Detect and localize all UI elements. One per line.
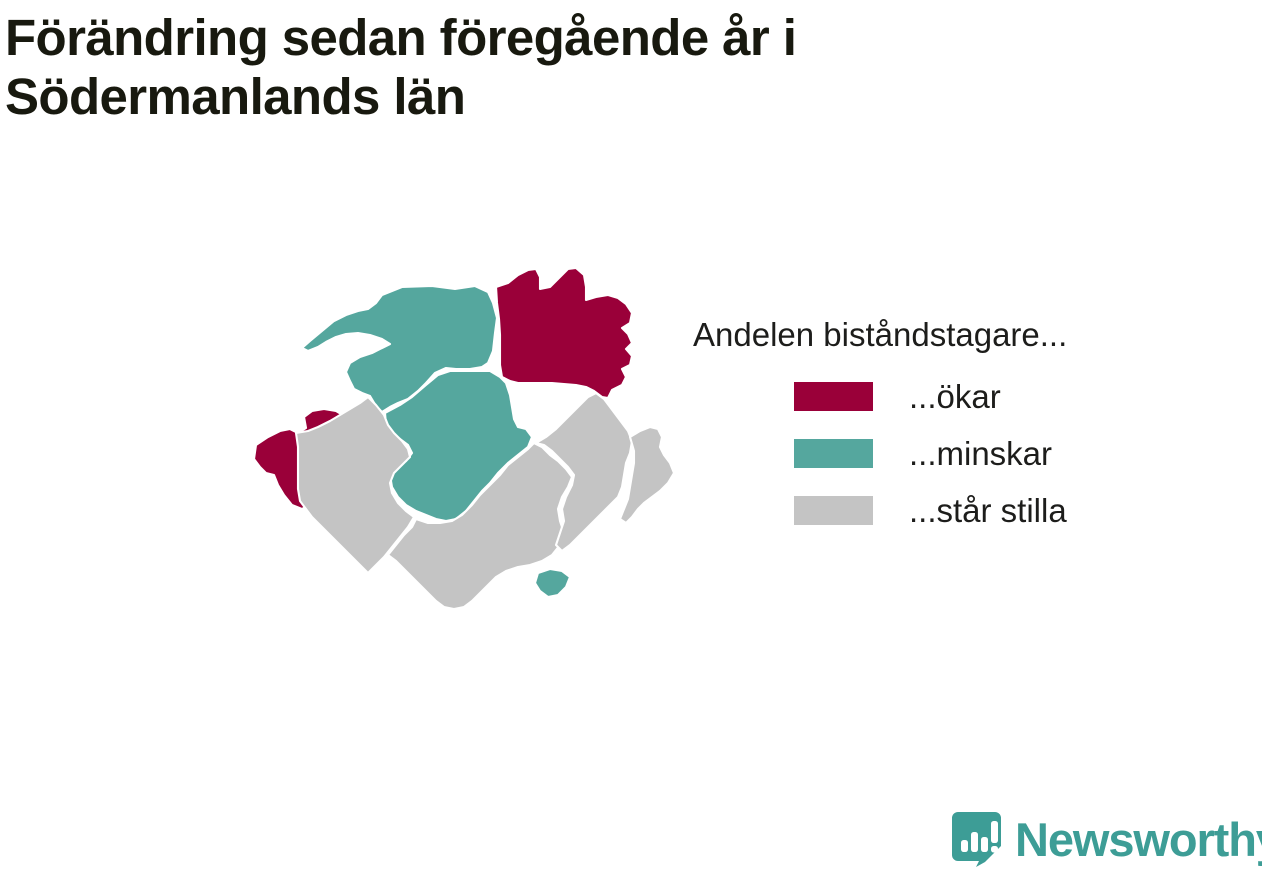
newsworthy-logo[interactable]: Newsworthy [952, 812, 1262, 867]
legend-label-decrease: ...minskar [909, 437, 1052, 470]
map-area-north-east[interactable] [496, 268, 632, 398]
legend-title: Andelen biståndstagare... [693, 318, 1213, 351]
legend-item-increase[interactable]: ...ökar [693, 374, 1213, 418]
legend-item-unchanged[interactable]: ...står stilla [693, 488, 1213, 532]
map-svg [250, 265, 680, 630]
legend-swatch-unchanged [794, 496, 873, 525]
legend-swatch-increase [794, 382, 873, 411]
map-area-south-small[interactable] [535, 569, 570, 597]
legend-label-increase: ...ökar [909, 380, 1001, 413]
legend: Andelen biståndstagare... ...ökar ...min… [693, 318, 1213, 532]
legend-label-unchanged: ...står stilla [909, 494, 1067, 527]
newsworthy-wordmark: Newsworthy [1015, 816, 1262, 863]
legend-swatch-decrease [794, 439, 873, 468]
choropleth-map [250, 265, 680, 630]
page-title: Förändring sedan föregående år i Söderma… [5, 8, 1105, 126]
bar-chart-speech-bubble-icon [952, 812, 1001, 867]
legend-item-decrease[interactable]: ...minskar [693, 431, 1213, 475]
